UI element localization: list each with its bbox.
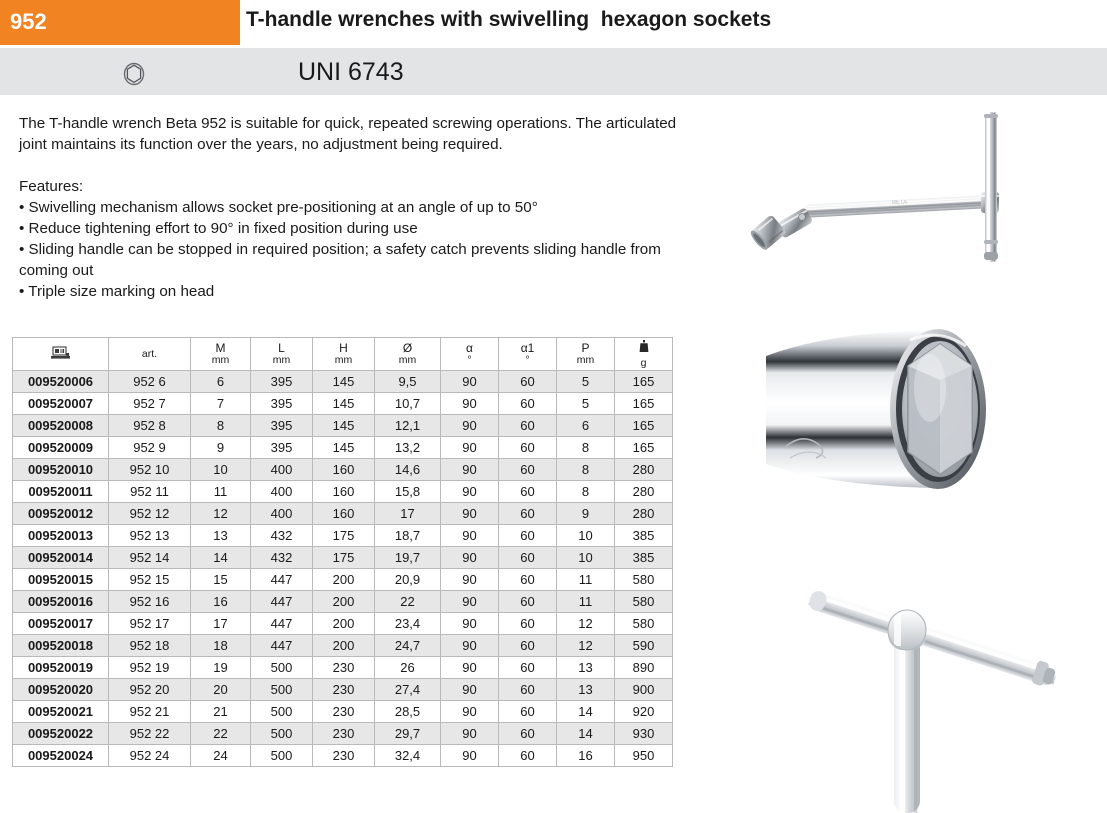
table-row[interactable]: 009520022952 222250023029,7906014930 bbox=[13, 723, 673, 745]
cell-diameter: 17 bbox=[375, 503, 441, 525]
cell-alpha: 90 bbox=[441, 723, 499, 745]
cell-art: 952 14 bbox=[109, 547, 191, 569]
cell-p: 10 bbox=[557, 547, 615, 569]
column-header-art: art. bbox=[109, 338, 191, 371]
cell-h: 200 bbox=[313, 635, 375, 657]
column-unit: ° bbox=[441, 354, 498, 366]
cell-m: 22 bbox=[191, 723, 251, 745]
column-unit: art. bbox=[109, 348, 190, 360]
cell-diameter: 10,7 bbox=[375, 393, 441, 415]
cell-alpha1: 60 bbox=[499, 679, 557, 701]
cell-code: 009520015 bbox=[13, 569, 109, 591]
table-row[interactable]: 009520013952 131343217518,7906010385 bbox=[13, 525, 673, 547]
table-row[interactable]: 009520009952 9939514513,290608165 bbox=[13, 437, 673, 459]
description-intro: The T-handle wrench Beta 952 is suitable… bbox=[19, 113, 679, 155]
cell-m: 13 bbox=[191, 525, 251, 547]
cell-alpha1: 60 bbox=[499, 371, 557, 393]
table-body: 009520006952 663951459,59060516500952000… bbox=[13, 371, 673, 767]
cell-diameter: 9,5 bbox=[375, 371, 441, 393]
description-spacer bbox=[19, 155, 679, 176]
cell-l: 447 bbox=[251, 591, 313, 613]
cell-alpha: 90 bbox=[441, 569, 499, 591]
cell-code: 009520013 bbox=[13, 525, 109, 547]
cell-p: 11 bbox=[557, 591, 615, 613]
cell-diameter: 14,6 bbox=[375, 459, 441, 481]
cell-h: 160 bbox=[313, 481, 375, 503]
cell-m: 20 bbox=[191, 679, 251, 701]
cell-l: 500 bbox=[251, 745, 313, 767]
cell-h: 145 bbox=[313, 371, 375, 393]
table-row[interactable]: 009520012952 12124001601790609280 bbox=[13, 503, 673, 525]
cell-weight: 280 bbox=[615, 459, 673, 481]
column-header-l: L mm bbox=[251, 338, 313, 371]
cell-art: 952 19 bbox=[109, 657, 191, 679]
column-symbol: Ø bbox=[375, 342, 440, 354]
column-symbol: L bbox=[251, 342, 312, 354]
cell-m: 15 bbox=[191, 569, 251, 591]
cell-art: 952 17 bbox=[109, 613, 191, 635]
cell-p: 10 bbox=[557, 525, 615, 547]
cell-diameter: 29,7 bbox=[375, 723, 441, 745]
cell-code: 009520019 bbox=[13, 657, 109, 679]
cell-code: 009520024 bbox=[13, 745, 109, 767]
table-row[interactable]: 009520010952 101040016014,690608280 bbox=[13, 459, 673, 481]
column-header-weight: g bbox=[615, 338, 673, 371]
column-symbol: M bbox=[191, 342, 250, 354]
cell-code: 009520009 bbox=[13, 437, 109, 459]
column-unit: mm bbox=[375, 354, 440, 366]
cell-l: 447 bbox=[251, 569, 313, 591]
cell-m: 16 bbox=[191, 591, 251, 613]
cell-code: 009520016 bbox=[13, 591, 109, 613]
hexagon-socket-icon bbox=[122, 62, 146, 86]
cell-alpha: 90 bbox=[441, 613, 499, 635]
cell-diameter: 27,4 bbox=[375, 679, 441, 701]
table-row[interactable]: 009520024952 242450023032,4906016950 bbox=[13, 745, 673, 767]
cell-h: 230 bbox=[313, 701, 375, 723]
column-header-alpha: α ° bbox=[441, 338, 499, 371]
cell-h: 230 bbox=[313, 723, 375, 745]
cell-weight: 920 bbox=[615, 701, 673, 723]
cell-l: 400 bbox=[251, 459, 313, 481]
column-header-m: M mm bbox=[191, 338, 251, 371]
cell-alpha1: 60 bbox=[499, 481, 557, 503]
cell-code: 009520007 bbox=[13, 393, 109, 415]
cell-weight: 165 bbox=[615, 415, 673, 437]
cell-alpha1: 60 bbox=[499, 547, 557, 569]
table-row[interactable]: 009520018952 181844720024,7906012590 bbox=[13, 635, 673, 657]
cell-m: 19 bbox=[191, 657, 251, 679]
column-header-p: P mm bbox=[557, 338, 615, 371]
cell-alpha1: 60 bbox=[499, 503, 557, 525]
cell-diameter: 12,1 bbox=[375, 415, 441, 437]
cell-diameter: 22 bbox=[375, 591, 441, 613]
cell-h: 160 bbox=[313, 503, 375, 525]
cell-m: 12 bbox=[191, 503, 251, 525]
cell-art: 952 20 bbox=[109, 679, 191, 701]
cell-alpha: 90 bbox=[441, 437, 499, 459]
cell-alpha: 90 bbox=[441, 679, 499, 701]
table-row[interactable]: 009520020952 202050023027,4906013900 bbox=[13, 679, 673, 701]
cell-alpha1: 60 bbox=[499, 393, 557, 415]
cell-l: 395 bbox=[251, 415, 313, 437]
cell-alpha1: 60 bbox=[499, 591, 557, 613]
cell-weight: 165 bbox=[615, 393, 673, 415]
cell-diameter: 28,5 bbox=[375, 701, 441, 723]
cell-art: 952 11 bbox=[109, 481, 191, 503]
cell-l: 395 bbox=[251, 393, 313, 415]
cell-weight: 580 bbox=[615, 569, 673, 591]
cell-diameter: 32,4 bbox=[375, 745, 441, 767]
cell-diameter: 13,2 bbox=[375, 437, 441, 459]
cell-art: 952 15 bbox=[109, 569, 191, 591]
svg-text:BETA: BETA bbox=[892, 200, 907, 206]
cell-art: 952 12 bbox=[109, 503, 191, 525]
cell-code: 009520018 bbox=[13, 635, 109, 657]
cell-diameter: 20,9 bbox=[375, 569, 441, 591]
cell-p: 8 bbox=[557, 459, 615, 481]
table-row[interactable]: 009520007952 7739514510,790605165 bbox=[13, 393, 673, 415]
title-bar: 952 T-handle wrenches with swivelling he… bbox=[0, 0, 1107, 45]
cell-l: 432 bbox=[251, 547, 313, 569]
cell-art: 952 16 bbox=[109, 591, 191, 613]
cell-weight: 165 bbox=[615, 437, 673, 459]
cell-code: 009520017 bbox=[13, 613, 109, 635]
cell-h: 145 bbox=[313, 415, 375, 437]
cell-weight: 385 bbox=[615, 525, 673, 547]
feature-item: • Reduce tightening effort to 90° in fix… bbox=[19, 218, 679, 239]
cell-art: 952 24 bbox=[109, 745, 191, 767]
column-unit: mm bbox=[251, 354, 312, 366]
column-unit: g bbox=[615, 357, 672, 369]
cell-art: 952 7 bbox=[109, 393, 191, 415]
table-row[interactable]: 009520019952 191950023026906013890 bbox=[13, 657, 673, 679]
cell-p: 14 bbox=[557, 723, 615, 745]
cell-alpha: 90 bbox=[441, 635, 499, 657]
cell-alpha1: 60 bbox=[499, 723, 557, 745]
sliding-t-handle-detail bbox=[782, 548, 1082, 813]
cell-l: 395 bbox=[251, 371, 313, 393]
cell-p: 6 bbox=[557, 415, 615, 437]
specifications-table: art. M mm L mm H mm Ø mm α ° bbox=[12, 337, 673, 767]
cell-code: 009520010 bbox=[13, 459, 109, 481]
cell-weight: 280 bbox=[615, 503, 673, 525]
norm-bar bbox=[0, 48, 1107, 95]
cell-code: 009520006 bbox=[13, 371, 109, 393]
cell-h: 230 bbox=[313, 657, 375, 679]
cell-h: 175 bbox=[313, 547, 375, 569]
table-row[interactable]: 009520016952 161644720022906011580 bbox=[13, 591, 673, 613]
cell-m: 9 bbox=[191, 437, 251, 459]
column-unit: mm bbox=[557, 354, 614, 366]
cell-alpha: 90 bbox=[441, 657, 499, 679]
feature-item: • Triple size marking on head bbox=[19, 281, 679, 302]
cell-art: 952 21 bbox=[109, 701, 191, 723]
cell-alpha: 90 bbox=[441, 503, 499, 525]
cell-art: 952 9 bbox=[109, 437, 191, 459]
cell-alpha: 90 bbox=[441, 525, 499, 547]
cell-alpha1: 60 bbox=[499, 745, 557, 767]
cell-diameter: 15,8 bbox=[375, 481, 441, 503]
cell-h: 230 bbox=[313, 745, 375, 767]
cell-l: 447 bbox=[251, 635, 313, 657]
hexagon-socket-closeup bbox=[760, 288, 1050, 533]
cell-diameter: 19,7 bbox=[375, 547, 441, 569]
column-unit: mm bbox=[191, 354, 250, 366]
column-symbol: P bbox=[557, 342, 614, 354]
cell-p: 13 bbox=[557, 657, 615, 679]
table-row[interactable]: 009520015952 151544720020,9906011580 bbox=[13, 569, 673, 591]
cell-p: 9 bbox=[557, 503, 615, 525]
cell-diameter: 24,7 bbox=[375, 635, 441, 657]
cell-p: 8 bbox=[557, 481, 615, 503]
cell-weight: 900 bbox=[615, 679, 673, 701]
cell-weight: 590 bbox=[615, 635, 673, 657]
cell-alpha1: 60 bbox=[499, 437, 557, 459]
cell-m: 10 bbox=[191, 459, 251, 481]
table-row[interactable]: 009520008952 8839514512,190606165 bbox=[13, 415, 673, 437]
cell-h: 200 bbox=[313, 569, 375, 591]
barcode-icon bbox=[13, 345, 108, 364]
cell-weight: 280 bbox=[615, 481, 673, 503]
t-handle-wrench-full-view: BETA bbox=[742, 100, 1102, 275]
cell-diameter: 23,4 bbox=[375, 613, 441, 635]
cell-art: 952 18 bbox=[109, 635, 191, 657]
column-symbol: α bbox=[441, 342, 498, 354]
cell-art: 952 6 bbox=[109, 371, 191, 393]
cell-weight: 580 bbox=[615, 591, 673, 613]
cell-art: 952 22 bbox=[109, 723, 191, 745]
cell-h: 200 bbox=[313, 613, 375, 635]
cell-h: 145 bbox=[313, 393, 375, 415]
cell-weight: 165 bbox=[615, 371, 673, 393]
cell-l: 432 bbox=[251, 525, 313, 547]
cell-l: 500 bbox=[251, 701, 313, 723]
cell-alpha: 90 bbox=[441, 393, 499, 415]
cell-alpha1: 60 bbox=[499, 635, 557, 657]
cell-m: 8 bbox=[191, 415, 251, 437]
cell-weight: 950 bbox=[615, 745, 673, 767]
cell-p: 14 bbox=[557, 701, 615, 723]
cell-l: 500 bbox=[251, 679, 313, 701]
product-code-text: 952 bbox=[10, 9, 47, 35]
cell-alpha: 90 bbox=[441, 701, 499, 723]
cell-weight: 930 bbox=[615, 723, 673, 745]
cell-m: 17 bbox=[191, 613, 251, 635]
cell-m: 6 bbox=[191, 371, 251, 393]
feature-item: • Sliding handle can be stopped in requi… bbox=[19, 239, 679, 281]
cell-m: 18 bbox=[191, 635, 251, 657]
cell-alpha: 90 bbox=[441, 591, 499, 613]
cell-diameter: 18,7 bbox=[375, 525, 441, 547]
cell-diameter: 26 bbox=[375, 657, 441, 679]
features-label: Features: bbox=[19, 176, 679, 197]
cell-alpha: 90 bbox=[441, 459, 499, 481]
cell-m: 21 bbox=[191, 701, 251, 723]
table-row[interactable]: 009520021952 212150023028,5906014920 bbox=[13, 701, 673, 723]
cell-h: 230 bbox=[313, 679, 375, 701]
cell-m: 7 bbox=[191, 393, 251, 415]
cell-p: 8 bbox=[557, 437, 615, 459]
cell-m: 24 bbox=[191, 745, 251, 767]
cell-alpha: 90 bbox=[441, 371, 499, 393]
column-symbol: H bbox=[313, 342, 374, 354]
cell-h: 175 bbox=[313, 525, 375, 547]
feature-item: • Swivelling mechanism allows socket pre… bbox=[19, 197, 679, 218]
cell-p: 5 bbox=[557, 393, 615, 415]
norm-label: UNI 6743 bbox=[298, 58, 404, 87]
cell-p: 13 bbox=[557, 679, 615, 701]
cell-h: 145 bbox=[313, 437, 375, 459]
cell-art: 952 8 bbox=[109, 415, 191, 437]
cell-alpha1: 60 bbox=[499, 569, 557, 591]
cell-l: 400 bbox=[251, 503, 313, 525]
cell-code: 009520022 bbox=[13, 723, 109, 745]
cell-alpha1: 60 bbox=[499, 525, 557, 547]
cell-alpha1: 60 bbox=[499, 613, 557, 635]
cell-code: 009520008 bbox=[13, 415, 109, 437]
cell-alpha: 90 bbox=[441, 547, 499, 569]
table-row[interactable]: 009520017952 171744720023,4906012580 bbox=[13, 613, 673, 635]
cell-l: 500 bbox=[251, 723, 313, 745]
cell-p: 12 bbox=[557, 613, 615, 635]
cell-art: 952 10 bbox=[109, 459, 191, 481]
product-code-badge: 952 bbox=[0, 0, 240, 45]
cell-p: 16 bbox=[557, 745, 615, 767]
cell-alpha: 90 bbox=[441, 415, 499, 437]
cell-m: 14 bbox=[191, 547, 251, 569]
cell-p: 5 bbox=[557, 371, 615, 393]
table-row[interactable]: 009520011952 111140016015,890608280 bbox=[13, 481, 673, 503]
cell-p: 11 bbox=[557, 569, 615, 591]
cell-alpha: 90 bbox=[441, 745, 499, 767]
column-header-code bbox=[13, 338, 109, 371]
table-header-row: art. M mm L mm H mm Ø mm α ° bbox=[13, 338, 673, 371]
column-header-h: H mm bbox=[313, 338, 375, 371]
cell-m: 11 bbox=[191, 481, 251, 503]
cell-code: 009520021 bbox=[13, 701, 109, 723]
cell-weight: 580 bbox=[615, 613, 673, 635]
cell-l: 400 bbox=[251, 481, 313, 503]
cell-code: 009520012 bbox=[13, 503, 109, 525]
column-header-diameter: Ø mm bbox=[375, 338, 441, 371]
column-unit: ° bbox=[499, 354, 556, 366]
cell-code: 009520014 bbox=[13, 547, 109, 569]
cell-alpha1: 60 bbox=[499, 459, 557, 481]
table-row[interactable]: 009520014952 141443217519,7906010385 bbox=[13, 547, 673, 569]
cell-code: 009520011 bbox=[13, 481, 109, 503]
table-row[interactable]: 009520006952 663951459,590605165 bbox=[13, 371, 673, 393]
cell-art: 952 13 bbox=[109, 525, 191, 547]
cell-alpha: 90 bbox=[441, 481, 499, 503]
cell-alpha1: 60 bbox=[499, 657, 557, 679]
product-description: The T-handle wrench Beta 952 is suitable… bbox=[19, 113, 679, 302]
cell-code: 009520020 bbox=[13, 679, 109, 701]
cell-weight: 890 bbox=[615, 657, 673, 679]
cell-h: 160 bbox=[313, 459, 375, 481]
cell-l: 395 bbox=[251, 437, 313, 459]
cell-weight: 385 bbox=[615, 547, 673, 569]
cell-l: 500 bbox=[251, 657, 313, 679]
cell-alpha1: 60 bbox=[499, 701, 557, 723]
cell-l: 447 bbox=[251, 613, 313, 635]
column-symbol: α1 bbox=[499, 342, 556, 354]
column-unit: mm bbox=[313, 354, 374, 366]
cell-h: 200 bbox=[313, 591, 375, 613]
cell-alpha1: 60 bbox=[499, 415, 557, 437]
page-title: T-handle wrenches with swivelling hexago… bbox=[246, 8, 771, 32]
weight-icon bbox=[615, 340, 672, 356]
column-header-alpha1: α1 ° bbox=[499, 338, 557, 371]
cell-p: 12 bbox=[557, 635, 615, 657]
